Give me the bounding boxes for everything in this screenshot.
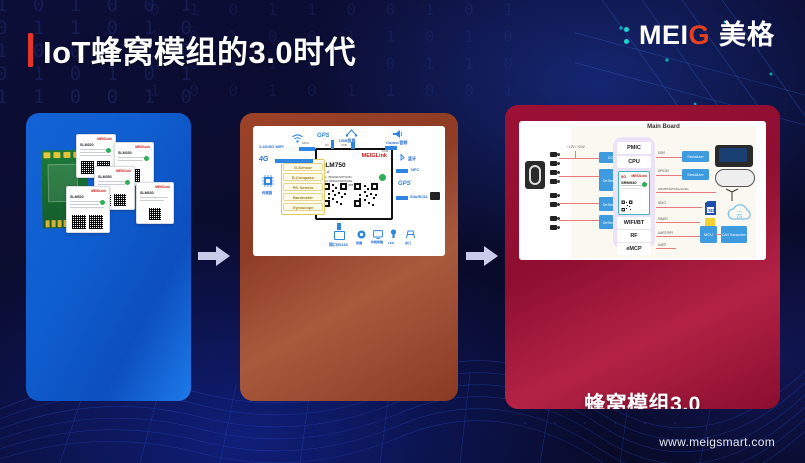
chip-icon — [261, 174, 275, 188]
speaker-icon — [391, 129, 404, 139]
slide-root: 1 0 1 0 0 1 0 1 1 0 1 0 1 0 0 1 1 0 0 1 … — [0, 0, 805, 463]
camera-icon — [550, 193, 557, 198]
card-3-title: 蜂窝模组3.0 — [505, 388, 780, 409]
card-3-image: Main Board +12V / +24V DCDC — [519, 121, 766, 260]
camera-icon — [550, 216, 557, 221]
card-2-image: MEIGLink SLM750 GT-A IMEI : 869002102879… — [253, 126, 445, 256]
block-serializer: Serializer — [682, 151, 709, 162]
module-srm930: 5G MEIGLink SRM930 — [618, 171, 650, 215]
sensor-g: G-Sensor — [283, 163, 323, 171]
website-url: www.meigsmart.com — [659, 435, 775, 449]
camera-icon — [550, 161, 557, 166]
display-icon — [373, 230, 383, 239]
block-mcu: MCU — [700, 226, 717, 243]
logo-mark-left: MEI — [639, 20, 689, 50]
usb-icon — [345, 128, 358, 137]
sd-card-icon: SD — [705, 201, 716, 215]
logo-dots-icon — [624, 27, 630, 44]
sensor-barometer: Barometer — [283, 193, 323, 201]
block-emcp: eMCP — [617, 243, 651, 255]
block-rf: RF — [617, 230, 651, 242]
instrument-cluster-icon — [715, 169, 755, 187]
button-icon — [357, 230, 366, 239]
svg-text:SD: SD — [708, 208, 715, 213]
soc-core-group: PMIC CPU 5G MEIGLink SRM930 — [613, 137, 655, 249]
module-slm750: MEIGLink SLM750 GT-A IMEI : 869002102879… — [315, 148, 393, 220]
block-can-transceiver: CAN Transceiver — [721, 226, 747, 243]
module-label: MEIGLinkSLM520 — [66, 186, 110, 233]
card-cellular-module-3[interactable]: Main Board +12V / +24V DCDC — [505, 105, 780, 409]
led-icon — [390, 229, 397, 239]
bluetooth-icon — [399, 153, 406, 162]
ethernet-icon — [334, 231, 345, 240]
camera-icon — [550, 225, 557, 230]
sensor-compass: E-Compass — [283, 173, 323, 181]
logo-chinese: 美格 — [719, 22, 775, 49]
cloud-icon: 云 — [725, 201, 755, 223]
sensor-gyro: Gyroscope — [283, 203, 323, 211]
brand-logo: MEIG 美格 — [624, 22, 775, 49]
gps-icon: GPS — [317, 129, 329, 139]
camera-icon — [550, 202, 557, 207]
camera-icon — [550, 170, 557, 175]
svg-text:云: 云 — [736, 211, 743, 219]
connector-icon — [430, 192, 440, 200]
svg-text:GPS: GPS — [317, 133, 329, 139]
main-board-title: Main Board — [571, 124, 756, 130]
camera-icon — [550, 152, 557, 157]
sensor-pl: P/L Sensor — [283, 183, 323, 191]
gps-icon: GPS — [398, 178, 412, 187]
serial-port-icon — [405, 229, 416, 239]
right-arrow-icon — [198, 246, 230, 266]
logo-mark-g: G — [688, 20, 710, 50]
card-cellular-module-1[interactable]: MEIGLinkSLM320 MEIGLinkSLM330 MEIGLinkSL… — [26, 113, 191, 401]
car-display-icon — [715, 145, 753, 167]
card-cellular-module-2[interactable]: MEIGLink SLM750 GT-A IMEI : 869002102879… — [240, 113, 458, 401]
sensor-list: G-Sensor E-Compass P/L Sensor Barometer … — [281, 159, 325, 215]
open-cpu-diagram: MEIGLink SLM750 GT-A IMEI : 869002102879… — [253, 126, 445, 256]
module-brand: MEIGLink — [631, 174, 647, 178]
block-serializer: Serializer — [682, 169, 709, 180]
module-badge-5g: 5G — [621, 174, 626, 179]
title-accent-bar — [28, 33, 33, 67]
right-arrow-icon — [466, 246, 498, 266]
antenna-icon — [724, 188, 740, 202]
card-1-title: 蜂窝模组1.0 — [26, 398, 191, 401]
module-label: MEIGLinkSLM630 — [136, 182, 174, 224]
block-pmic: PMIC — [617, 142, 651, 154]
card-1-image: MEIGLinkSLM320 MEIGLinkSLM330 MEIGLinkSL… — [40, 128, 177, 246]
sim-card-icon — [705, 218, 715, 226]
main-board-diagram: Main Board +12V / +24V DCDC — [519, 121, 766, 260]
page-title: IoT蜂窝模组的3.0时代 — [43, 27, 356, 72]
page-title-group: IoT蜂窝模组的3.0时代 — [28, 27, 356, 72]
svg-text:GPS: GPS — [398, 181, 411, 187]
block-wifi-bt: WIFI/BT — [617, 217, 651, 229]
camera-icon — [550, 179, 557, 184]
logo-wordmark: MEIG — [639, 22, 710, 49]
block-cpu: CPU — [617, 156, 651, 168]
steering-wheel-icon — [525, 161, 545, 189]
